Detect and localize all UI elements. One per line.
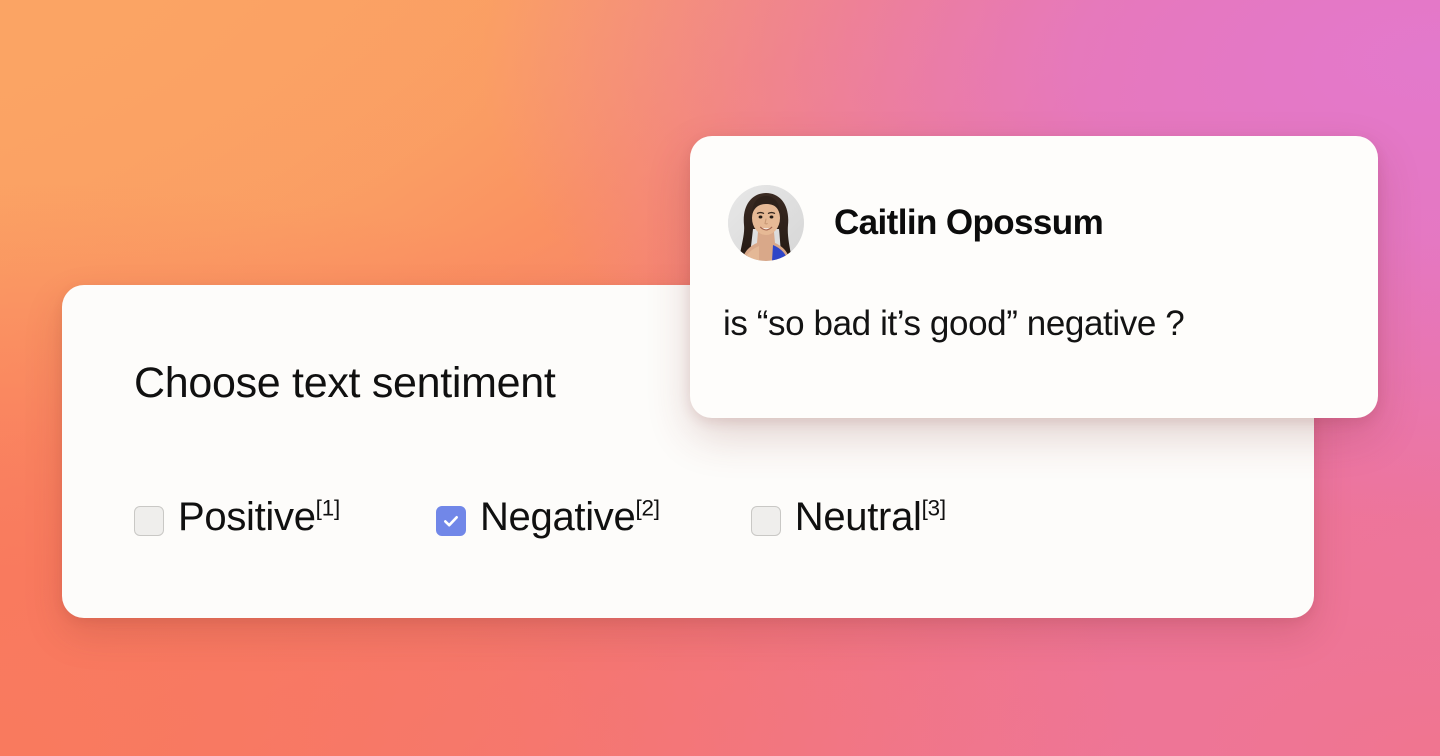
sentiment-option-label: Positive[1] [178,497,340,537]
comment-author-name: Caitlin Opossum [834,203,1103,243]
shortcut-badge: [1] [316,496,340,521]
checkbox-unchecked-icon[interactable] [751,506,781,536]
avatar [728,185,804,261]
sentiment-option-neutral[interactable]: Neutral[3] [751,497,946,537]
checkbox-unchecked-icon[interactable] [134,506,164,536]
shortcut-badge: [2] [635,496,659,521]
checkbox-checked-icon[interactable] [436,506,466,536]
comment-card: Caitlin Opossum is “so bad it’s good” ne… [690,136,1378,418]
shortcut-badge: [3] [922,496,946,521]
sentiment-option-label: Neutral[3] [795,497,946,537]
sentiment-options-group: Positive[1] Negative[2] Neutral[3] [134,497,946,537]
page-title: Choose text sentiment [134,359,556,408]
sentiment-option-label: Negative[2] [480,497,660,537]
comment-header: Caitlin Opossum [728,185,1103,261]
sentiment-option-negative[interactable]: Negative[2] [436,497,660,537]
sentiment-option-positive[interactable]: Positive[1] [134,497,340,537]
comment-text: is “so bad it’s good” negative ? [723,304,1184,344]
